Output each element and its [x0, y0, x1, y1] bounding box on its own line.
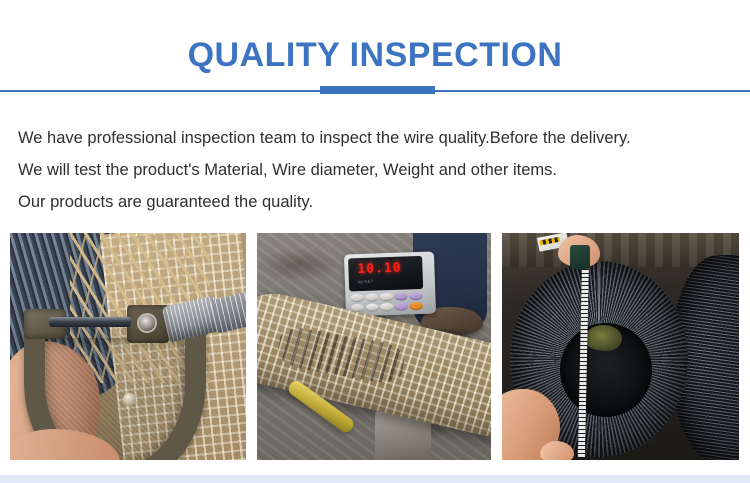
scale-key: [410, 302, 423, 311]
tape-measure-coil-photo[interactable]: [502, 233, 739, 460]
scale-display-panel: 10.10 kg NET: [348, 256, 423, 292]
tape-measure-case: [570, 245, 590, 269]
label-barcode: [539, 237, 560, 246]
photo-2-content: 10.10 kg NET: [257, 233, 491, 460]
green-label: [584, 325, 622, 351]
scale-display-sublabel: kg NET: [358, 279, 374, 285]
scale-key: [394, 292, 407, 301]
scale-key: [350, 294, 363, 303]
page-title: QUALITY INSPECTION: [0, 34, 750, 76]
scale-key: [380, 303, 393, 312]
photo-1-content: [10, 233, 246, 460]
coil-shadow-band: [276, 325, 407, 386]
description-line-3: Our products are guaranteed the quality.: [18, 186, 732, 218]
scale-weight-readout: 10.10: [357, 261, 402, 278]
scale-key: [380, 293, 393, 302]
scale-key: [365, 303, 378, 312]
scale-key: [395, 302, 408, 311]
photo-gallery: 10.10 kg NET: [10, 233, 740, 460]
description-line-2: We will test the product's Material, Wir…: [18, 154, 732, 186]
section-divider: [0, 86, 750, 96]
measured-wire: [49, 317, 131, 327]
title-block: QUALITY INSPECTION: [0, 34, 750, 76]
scale-key: [365, 293, 378, 302]
digital-scale-head: 10.10 kg NET: [344, 251, 436, 316]
quality-inspection-page: QUALITY INSPECTION We have professional …: [0, 0, 750, 483]
frame-pin: [123, 393, 136, 406]
scale-keypad: [350, 292, 423, 313]
description-text: We have professional inspection team to …: [18, 122, 732, 218]
description-line-1: We have professional inspection team to …: [18, 122, 732, 154]
photo-3-content: [502, 233, 739, 460]
divider-accent-bar: [320, 86, 435, 94]
bottom-strip: [0, 475, 750, 483]
digital-scale-weighing-photo[interactable]: 10.10 kg NET: [257, 233, 491, 460]
micrometer-spindle-hole: [139, 315, 155, 331]
scale-key: [409, 292, 422, 301]
micrometer-wire-diameter-photo[interactable]: [10, 233, 246, 460]
